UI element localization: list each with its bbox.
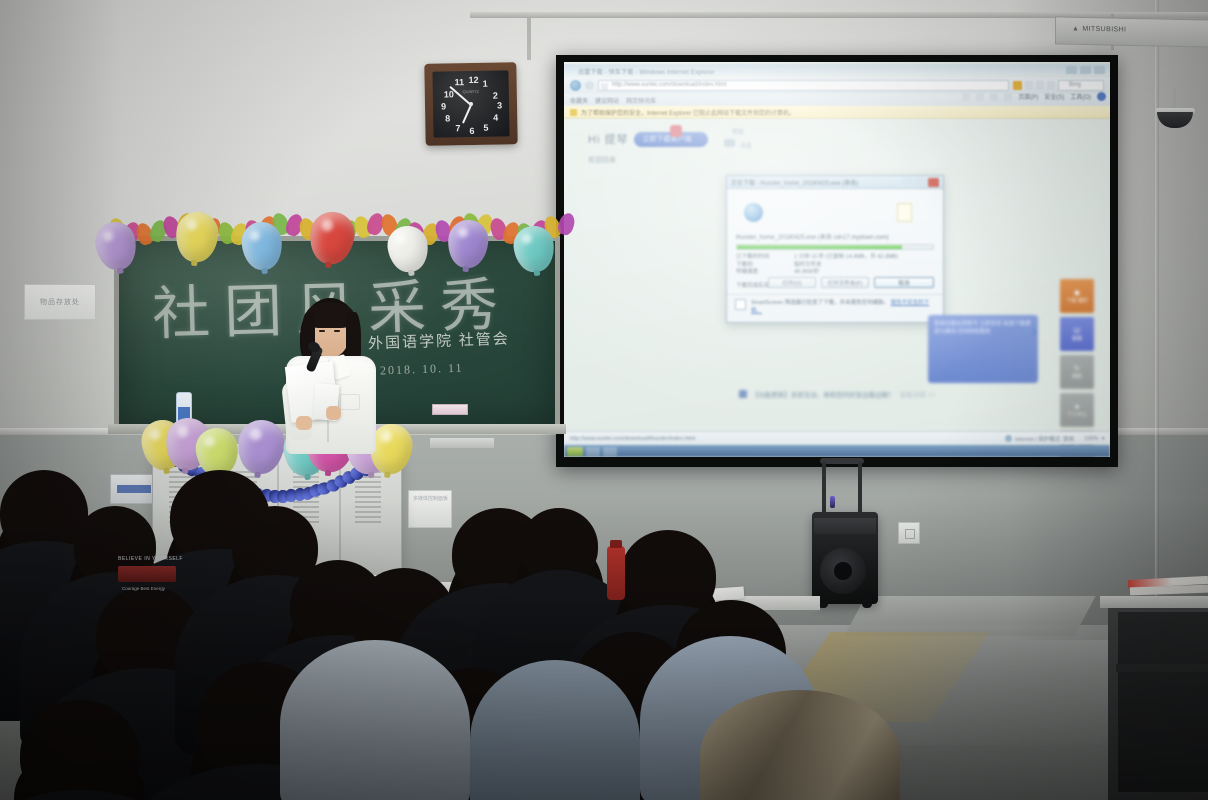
forward-icon[interactable]	[585, 81, 594, 90]
favbar-item[interactable]: 网页快讯库	[626, 96, 656, 105]
speaker-dustcap	[834, 562, 852, 580]
jacket-subtext: Courage Best Energy	[122, 586, 165, 591]
address-bar[interactable]: http://www.xunlei.com/download/index.htm…	[598, 80, 1009, 91]
navbar-right-cluster: Bing	[1013, 80, 1104, 91]
dialog-body: thunder_home_20180425.exe (来自 cdn17.mydo…	[727, 189, 943, 289]
page-greeting-row: Hi 提琴 立即下载客户端	[588, 131, 708, 147]
red-water-bottle	[607, 546, 625, 600]
read-mail-icon[interactable]	[990, 93, 998, 101]
balloon-highlight	[186, 219, 198, 231]
balloon-highlight	[457, 227, 468, 238]
blackboard-date: 2018. 10. 11	[380, 361, 464, 379]
balloon-highlight	[176, 425, 189, 438]
clock-numeral: 11	[455, 77, 465, 87]
detail-row: 下载到: 临时文件夹	[736, 262, 934, 270]
file-icon	[897, 203, 912, 222]
dialog-footer: SmartScreen 筛选器已检查了下载，并未报告任何威胁。 报告不安全的下载…	[727, 294, 943, 324]
browser-statusbar: http://www.xunlei.com/download/thunder/i…	[564, 431, 1110, 445]
detail-value: 48.3KB/秒	[794, 269, 819, 277]
gift-icon: ◆	[1074, 289, 1080, 297]
help-link[interactable]: 帮助	[732, 127, 744, 136]
wall-sign-label: 物品存放处	[40, 297, 80, 307]
address-bar-value: http://www.xunlei.com/download/index.htm…	[612, 82, 726, 88]
smartscreen-text: SmartScreen 筛选器已检查了下载，并未报告任何威胁。 报告不安全的下载…	[751, 299, 935, 320]
bottle-cap	[610, 540, 622, 548]
refresh-icon: ↻	[1074, 365, 1081, 373]
feeds-icon[interactable]	[976, 93, 984, 101]
greeting-text: Hi 提琴	[588, 131, 628, 147]
message-icon[interactable]	[724, 139, 735, 147]
detail-label: 传输速度:	[736, 269, 788, 277]
detail-row: 传输速度: 48.3KB/秒	[736, 269, 934, 277]
open-folder-button[interactable]: 打开文件夹(F)	[821, 277, 869, 288]
presenter-eye-right	[334, 330, 340, 332]
maximize-icon[interactable]	[1080, 66, 1091, 74]
balloon-highlight	[395, 234, 407, 245]
status-zoom[interactable]: 100% ▾	[1084, 436, 1104, 442]
notification-badge[interactable]	[670, 125, 682, 137]
wall-corner-edge	[1155, 0, 1159, 640]
back-icon[interactable]	[570, 80, 581, 91]
book-stack	[1128, 578, 1208, 598]
browser-titlebar: 迅雷下载 - 快车下载 - Windows Internet Explorer	[564, 64, 1110, 76]
megaphone-icon	[739, 390, 747, 398]
speaker-cone	[820, 548, 866, 594]
trolley-handle-right	[858, 462, 862, 516]
zoom-level: 100%	[1084, 436, 1098, 442]
trolley-handle-left	[822, 462, 826, 516]
detail-value: 1 分钟 15 秒 (已复制 14.4MB，共 42.3MB)	[794, 254, 898, 262]
clock-numeral: 9	[441, 101, 446, 111]
presenter-shirt-pocket	[340, 394, 360, 410]
globe-icon	[744, 203, 763, 222]
window-controls[interactable]	[1066, 66, 1105, 74]
clock-brand-label: QUARTZ	[463, 89, 479, 94]
side-button-label: 个人中心	[1067, 412, 1087, 418]
infobar-text: 为了帮助保护您的安全，Internet Explorer 已阻止此网站下载文件到…	[581, 108, 795, 117]
download-dialog[interactable]: 正在下载 - thunder_home_20180425.exe (单击) t	[726, 175, 944, 323]
jacket-slogan: BELIEVE IN YOURSELF	[118, 556, 183, 562]
book-white	[1130, 585, 1208, 596]
dialog-title: 正在下载 - thunder_home_20180425.exe (单击)	[731, 178, 858, 187]
taskbar-item-ie[interactable]	[586, 447, 600, 456]
dialog-maximize-icon[interactable]	[915, 178, 926, 187]
favicon-icon	[601, 83, 608, 90]
speaker-led-indicator	[830, 496, 835, 508]
dialog-detail-rows: 已下载的时间: 1 分钟 15 秒 (已复制 14.4MB，共 42.3MB) …	[736, 254, 934, 277]
trolley-foot-right	[862, 598, 872, 608]
side-button-label: 下载 福利	[1066, 298, 1087, 304]
clock-numeral: 12	[468, 75, 478, 85]
cabinet-shelf	[1116, 664, 1208, 672]
open-button[interactable]: 打开(O)	[768, 277, 816, 288]
dialog-titlebar: 正在下载 - thunder_home_20180425.exe (单击)	[727, 176, 943, 189]
balloon-highlight	[102, 230, 114, 242]
clock-numeral: 7	[455, 123, 460, 133]
housing-brand-logo: ▲MITSUBISHI	[1072, 25, 1126, 33]
wall-vent	[430, 438, 494, 448]
balloon-highlight	[204, 436, 216, 447]
balloon-highlight	[321, 219, 334, 232]
clock-numeral: 2	[493, 91, 498, 101]
wall-box-strip	[117, 485, 151, 493]
shield-icon	[570, 109, 577, 116]
detail-label: 下载到:	[736, 262, 788, 270]
browser-window-title: 迅雷下载 - 快车下载 - Windows Internet Explorer	[578, 67, 715, 76]
stop-icon[interactable]	[1047, 81, 1055, 90]
message-label: 消息	[740, 141, 752, 150]
dialog-minimize-icon[interactable]	[902, 178, 913, 187]
av-control-label: 多媒体控制面板	[413, 496, 448, 503]
clock-numeral: 5	[483, 123, 488, 133]
windows-taskbar	[564, 445, 1110, 457]
favbar-item[interactable]: 建议网站	[595, 96, 619, 105]
command-page-menu[interactable]: 页面(P)	[1018, 92, 1038, 101]
portable-speaker	[812, 512, 878, 604]
clock-center-pin	[469, 102, 473, 106]
refresh-icon[interactable]	[1036, 81, 1044, 90]
balloon-highlight	[521, 234, 533, 245]
tray-card	[432, 404, 468, 415]
presenter-hand-right	[326, 406, 341, 420]
detail-row: 已下载的时间: 1 分钟 15 秒 (已复制 14.4MB，共 42.3MB)	[736, 254, 934, 262]
member-tooltip: 登录迅雷会员账号 立即享受 高速下载通道与离线 空间特权服务	[928, 315, 1038, 383]
projection-screen: 迅雷下载 - 快车下载 - Windows Internet Explorer …	[556, 55, 1118, 467]
help-icon[interactable]	[1097, 92, 1106, 101]
audience-shoulders-light	[280, 640, 470, 800]
greeting-subtext: 欢迎回来	[588, 155, 616, 165]
balloon-highlight	[149, 428, 161, 440]
side-button-support[interactable]: ☏ 客服	[1060, 317, 1094, 351]
av-control-panel[interactable]: 多媒体控制面板	[408, 490, 452, 528]
dialog-action-row: 打开(O) 打开文件夹(F) 取消	[736, 277, 934, 288]
search-input[interactable]: Bing	[1058, 80, 1104, 91]
progress-fill	[737, 245, 902, 249]
outlet-socket	[905, 529, 915, 539]
presenter-eye-left	[319, 330, 325, 332]
download-progress-bar	[736, 244, 934, 250]
clock-numeral: 8	[445, 113, 450, 123]
jacket-graphic	[118, 566, 176, 582]
dialog-icon-row	[736, 197, 934, 227]
clock-hour-hand	[462, 105, 472, 124]
smartscreen-message: SmartScreen 筛选器已检查了下载，并未报告任何威胁。	[751, 300, 889, 306]
smartscreen-icon	[735, 299, 746, 310]
dialog-filename: thunder_home_20180425.exe (来自 cdn17.mydo…	[736, 232, 934, 241]
dialog-close-icon[interactable]	[928, 178, 939, 187]
minimize-icon[interactable]	[1066, 66, 1077, 74]
clock-face: QUARTZ 12 1 2 3 4 5 6 7 8 9 10 11	[432, 70, 509, 137]
cabinet-interior	[1118, 612, 1208, 792]
taskbar-item-explorer[interactable]	[603, 447, 617, 456]
close-icon[interactable]	[1094, 66, 1105, 74]
housing-brand-text: MITSUBISHI	[1082, 26, 1126, 34]
footer-more-link[interactable]: 查看详情 >>	[900, 389, 935, 399]
balloon-highlight	[249, 230, 260, 242]
search-placeholder: Bing	[1069, 82, 1081, 88]
wall-clock: QUARTZ 12 1 2 3 4 5 6 7 8 9 10 11	[424, 62, 517, 146]
compat-view-icon[interactable]	[1025, 81, 1033, 90]
side-button-gift[interactable]: ◆ 下载 福利	[1060, 279, 1094, 313]
clock-numeral: 6	[469, 126, 474, 136]
audience-head	[20, 700, 140, 800]
presenter	[278, 298, 384, 454]
footer-note: 【功能更新】多屏互动，来和您的好友边看边聊！	[752, 389, 895, 399]
dialog-window-controls[interactable]	[902, 178, 939, 187]
detail-value: 临时文件夹	[794, 262, 822, 270]
power-outlet	[898, 522, 920, 544]
page-footer-banner[interactable]: 【功能更新】多屏互动，来和您的好友边看边聊！ 查看详情 >>	[564, 383, 1110, 405]
speaker-top-panel	[814, 518, 876, 534]
home-icon[interactable]	[962, 93, 970, 101]
status-zone: Internet | 保护模式: 禁用	[1005, 435, 1074, 443]
chevron-down-icon[interactable]: ▾	[1101, 436, 1104, 442]
security-infobar[interactable]: 为了帮助保护您的安全，Internet Explorer 已阻止此网站下载文件到…	[564, 106, 1110, 119]
mitsubishi-triangle-icon: ▲	[1072, 25, 1079, 32]
status-zone-text: Internet | 保护模式: 禁用	[1015, 435, 1074, 443]
clock-numeral: 1	[483, 79, 488, 89]
side-button-label: 客服	[1072, 336, 1082, 342]
clock-numeral: 3	[497, 100, 502, 110]
command-bar: 页面(P) 安全(S) 工具(O)	[962, 92, 1106, 101]
wall-sign: 物品存放处	[24, 284, 96, 320]
side-button-label: 刷新	[1072, 374, 1082, 380]
favbar-item[interactable]: 收藏夹	[570, 96, 588, 105]
projection-surface: 迅雷下载 - 快车下载 - Windows Internet Explorer …	[564, 62, 1110, 457]
cancel-button[interactable]: 取消	[874, 277, 934, 288]
command-tools-menu[interactable]: 工具(O)	[1070, 92, 1091, 101]
command-security-menu[interactable]: 安全(S)	[1044, 92, 1064, 101]
start-button[interactable]	[567, 447, 583, 456]
presenter-hand-left	[296, 416, 312, 430]
status-url: http://www.xunlei.com/download/thunder/i…	[570, 436, 1005, 442]
classroom-scene: ▲MITSUBISHI QUARTZ 12 1 2 3 4 5 6 7 8 9 …	[0, 0, 1208, 800]
webpage-content: Hi 提琴 立即下载客户端 欢迎回来 帮助 消息 正在下载 - thunder_…	[564, 119, 1110, 431]
balloon-highlight	[249, 427, 262, 440]
zone-icon	[1005, 435, 1012, 442]
detail-label: 已下载的时间:	[736, 254, 788, 262]
print-icon[interactable]	[1004, 93, 1012, 101]
clock-numeral: 4	[493, 113, 498, 123]
download-client-label: 立即下载客户端	[642, 134, 691, 144]
phone-icon: ☏	[1072, 327, 1082, 335]
lock-icon	[1013, 81, 1022, 90]
conduit-drop-left	[527, 18, 531, 60]
